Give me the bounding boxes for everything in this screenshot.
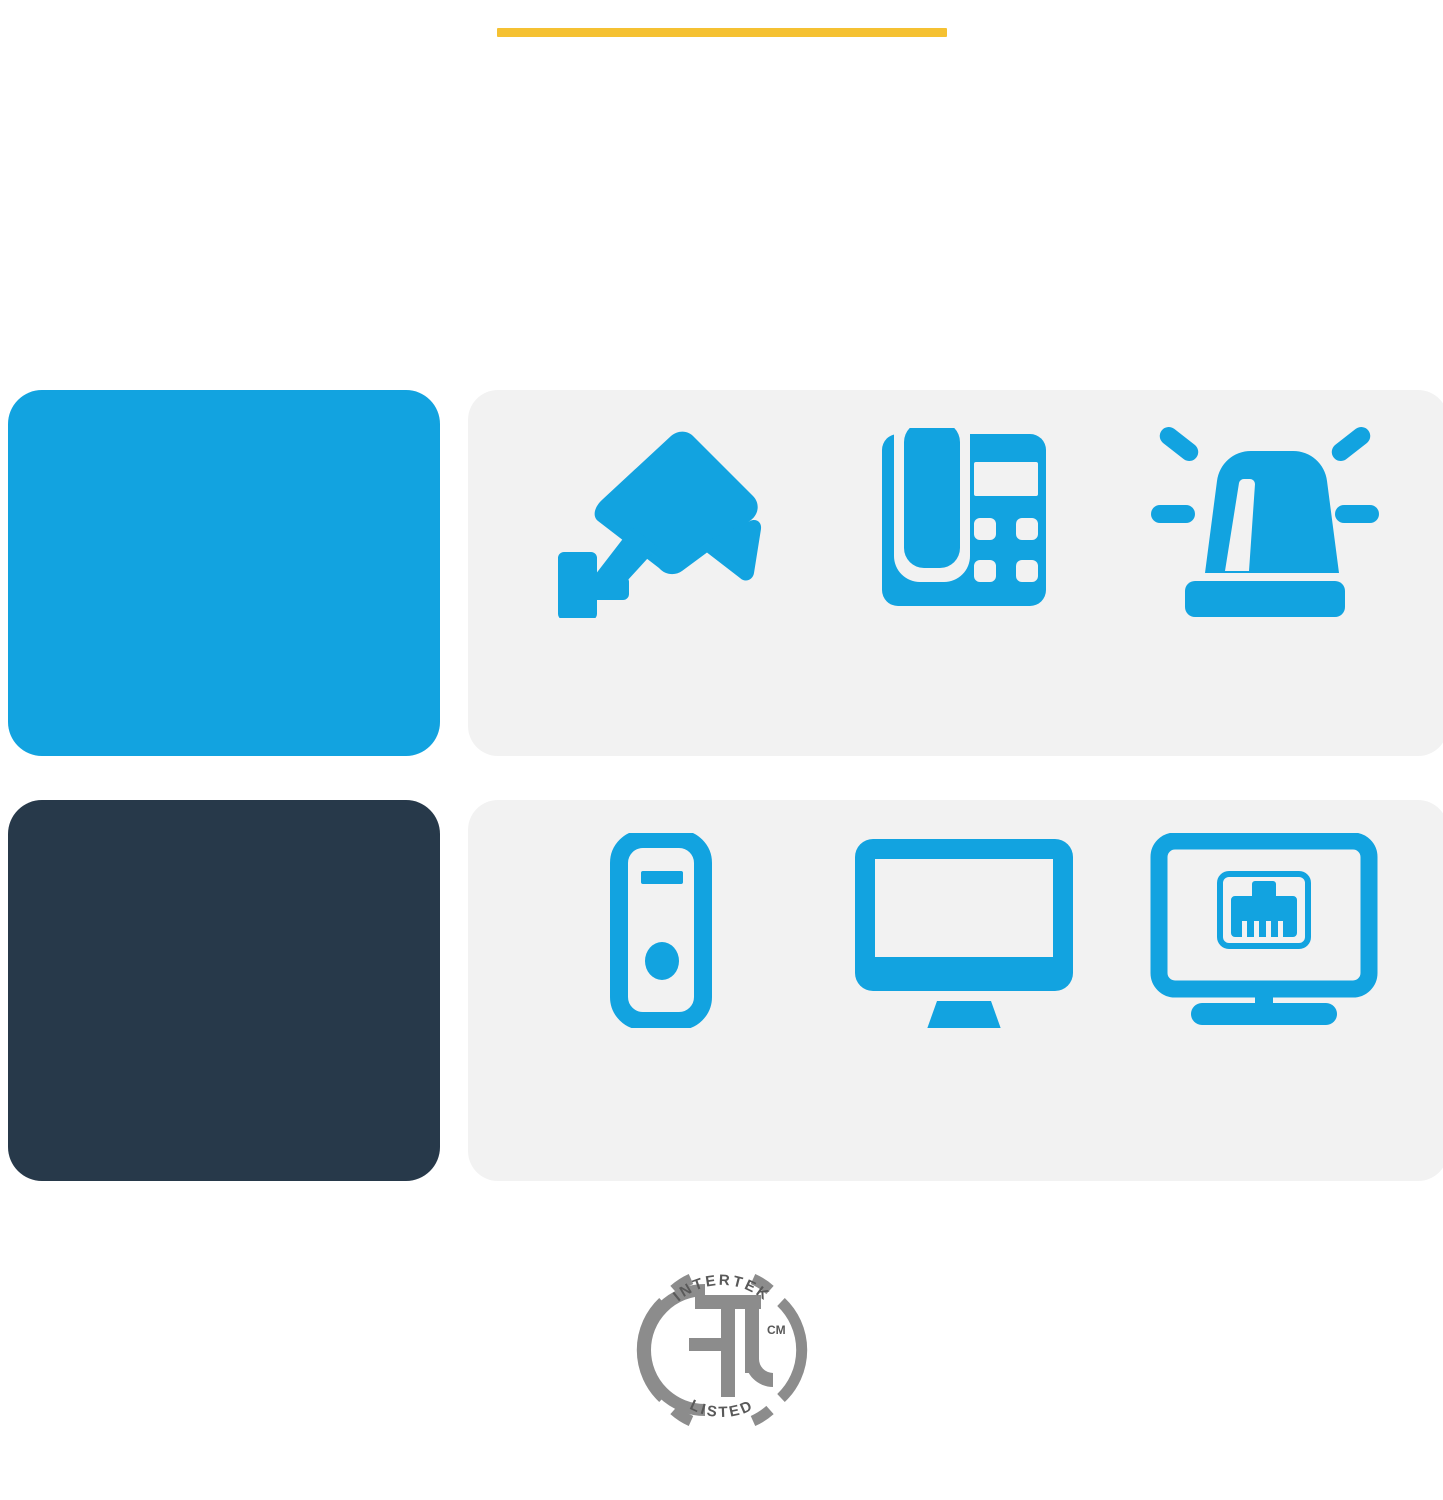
poe-plus-plus-badge [8, 800, 440, 1181]
device-item-monitors [814, 830, 1114, 1036]
poe-plus-badge [8, 390, 440, 756]
device-item-cameras [514, 420, 814, 626]
device-item-ip-tvs [1114, 830, 1414, 1036]
device-item-ip-phones [814, 420, 1114, 626]
etl-logo-bottom-text: LISTED [687, 1397, 756, 1421]
poe-plus-plus-row [8, 800, 1435, 1181]
infographic-page: INTERTEK LISTED CM [0, 0, 1443, 1500]
thin-client-icon [609, 830, 719, 1030]
etl-certification-logo-wrap: INTERTEK LISTED CM [0, 1255, 1443, 1435]
monitor-icon [849, 830, 1079, 1030]
title-underline-accent [497, 28, 947, 37]
device-item-thin-clients [514, 830, 814, 1036]
poe-plus-panel [468, 390, 1443, 756]
ip-tv-icon [1149, 830, 1379, 1030]
poe-plus-device-list [514, 420, 1414, 626]
device-item-alarm-systems [1114, 420, 1414, 626]
etl-listed-logo: INTERTEK LISTED CM [627, 1255, 817, 1435]
poe-plus-plus-panel [468, 800, 1443, 1181]
poe-plus-row [8, 390, 1435, 756]
etl-logo-superscript: CM [767, 1323, 786, 1337]
alarm-siren-icon [1139, 420, 1389, 620]
ip-phone-icon [864, 420, 1064, 620]
page-header [0, 0, 1443, 37]
security-camera-icon [554, 420, 774, 620]
poe-plus-plus-device-list [514, 830, 1414, 1036]
